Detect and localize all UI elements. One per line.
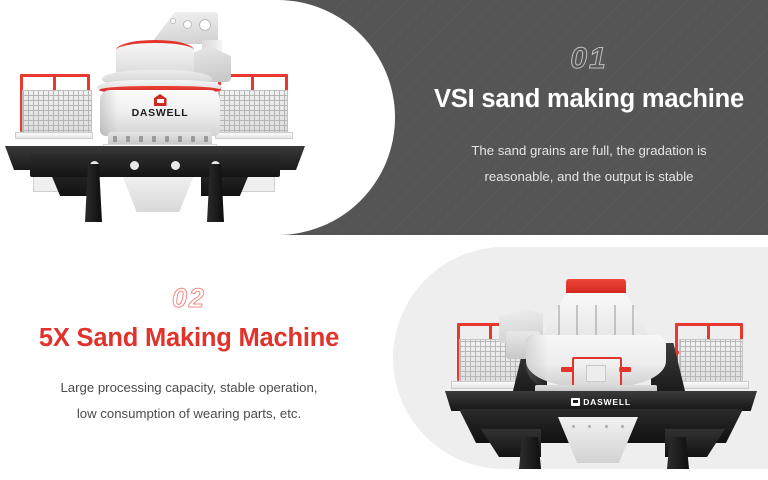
fivex-leg-right [667, 437, 689, 469]
section-vsi: DASWELL 01 VSI sand making machine [0, 0, 768, 235]
fivex-leg-left [519, 437, 541, 469]
fivex-text-panel: 02 5X Sand Making Machine Large processi… [0, 235, 378, 480]
product-feature-banner: DASWELL 01 VSI sand making machine [0, 0, 768, 480]
vsi-platform-right [215, 132, 293, 139]
fivex-subtitle: Large processing capacity, stable operat… [18, 375, 360, 426]
fivex-image-panel: DASWELL [393, 247, 768, 469]
vsi-subtitle-line-1: The sand grains are full, the gradation … [424, 138, 754, 164]
fivex-grate-right [679, 339, 743, 383]
daswell-wordmark: DASWELL [132, 107, 189, 119]
fivex-step-number: 02 [0, 285, 378, 312]
daswell-mark-icon [571, 398, 580, 406]
daswell-wordmark: DASWELL [583, 397, 631, 407]
fivex-machine-logo: DASWELL [445, 395, 757, 409]
fivex-red-feed-inlet [566, 279, 626, 295]
vsi-subtitle: The sand grains are full, the gradation … [424, 138, 754, 189]
fivex-housing-ribs [541, 305, 651, 339]
fivex-machine-illustration: DASWELL [423, 269, 768, 469]
fivex-subtitle-line-2: low consumption of wearing parts, etc. [18, 401, 360, 427]
vsi-platform-left [15, 132, 93, 139]
fivex-title: 5X Sand Making Machine [0, 323, 378, 354]
vsi-image-panel: DASWELL [0, 0, 395, 235]
daswell-mark-icon [154, 94, 167, 106]
vsi-text-panel: 01 VSI sand making machine The sand grai… [410, 0, 768, 235]
vsi-machine-illustration: DASWELL [0, 2, 335, 232]
vsi-chassis-beam-front [30, 154, 280, 177]
vsi-subtitle-line-2: reasonable, and the output is stable [424, 164, 754, 190]
fivex-discharge-funnel [558, 417, 638, 463]
vsi-title: VSI sand making machine [410, 84, 768, 115]
vsi-step-number: 01 [410, 44, 768, 74]
section-5x: DASWELL 02 5X Sand Making Machine Large … [0, 235, 768, 480]
fivex-subtitle-line-1: Large processing capacity, stable operat… [18, 375, 360, 401]
vsi-machine-logo: DASWELL [100, 94, 220, 132]
vsi-grate-left [22, 90, 92, 137]
vsi-grate-right [218, 90, 288, 137]
fivex-platform-right [673, 381, 749, 389]
